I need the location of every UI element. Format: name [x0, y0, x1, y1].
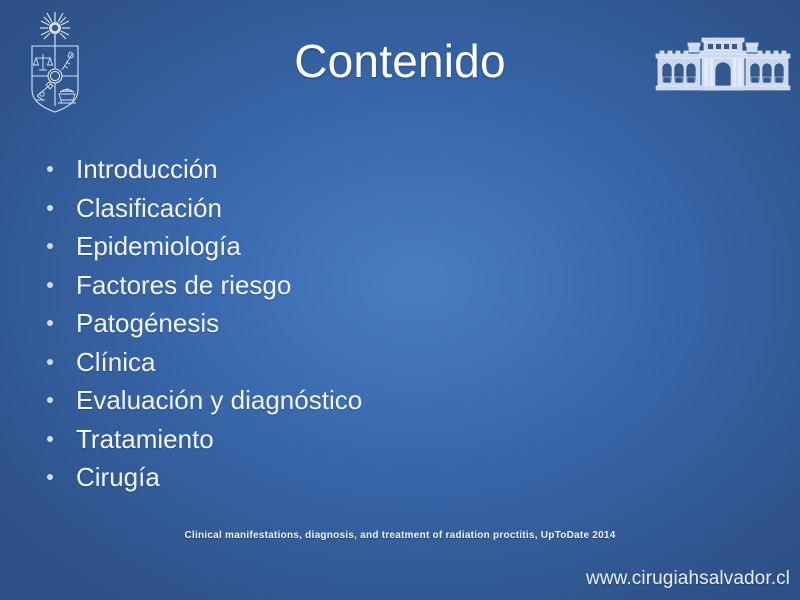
list-item-label: Patogénesis: [76, 308, 219, 338]
universidad-de-chile-crest-icon: [21, 8, 89, 116]
list-item: Clasificación: [40, 189, 600, 228]
list-item: Epidemiología: [40, 227, 600, 266]
presentation-slide: Contenido: [0, 0, 800, 600]
slide-title: Contenido: [150, 36, 650, 87]
list-item: Cirugía: [40, 458, 600, 497]
list-item-label: Cirugía: [76, 462, 160, 492]
hospital-building-logo-icon: [652, 34, 794, 102]
bullet-dot-icon: [47, 436, 53, 442]
bullet-dot-icon: [47, 166, 53, 172]
list-item-label: Clasificación: [76, 193, 222, 223]
footer-url: www.cirugiahsalvador.cl: [586, 568, 790, 590]
list-item: Tratamiento: [40, 420, 600, 459]
content-bullet-list: Introducción Clasificación Epidemiología…: [40, 150, 600, 497]
bullet-dot-icon: [47, 474, 53, 480]
list-item-label: Clínica: [76, 347, 155, 377]
source-citation: Clinical manifestations, diagnosis, and …: [0, 530, 800, 541]
list-item-label: Factores de riesgo: [76, 270, 291, 300]
bullet-dot-icon: [47, 282, 53, 288]
list-item-label: Introducción: [76, 154, 218, 184]
bullet-dot-icon: [47, 320, 53, 326]
list-item: Patogénesis: [40, 304, 600, 343]
bullet-dot-icon: [47, 205, 53, 211]
bullet-dot-icon: [47, 359, 53, 365]
list-item-label: Epidemiología: [76, 231, 241, 261]
bullet-dot-icon: [47, 243, 53, 249]
bullet-dot-icon: [47, 397, 53, 403]
list-item: Evaluación y diagnóstico: [40, 381, 600, 420]
list-item: Factores de riesgo: [40, 266, 600, 305]
list-item-label: Evaluación y diagnóstico: [76, 385, 362, 415]
list-item: Clínica: [40, 343, 600, 382]
list-item: Introducción: [40, 150, 600, 189]
list-item-label: Tratamiento: [76, 424, 214, 454]
